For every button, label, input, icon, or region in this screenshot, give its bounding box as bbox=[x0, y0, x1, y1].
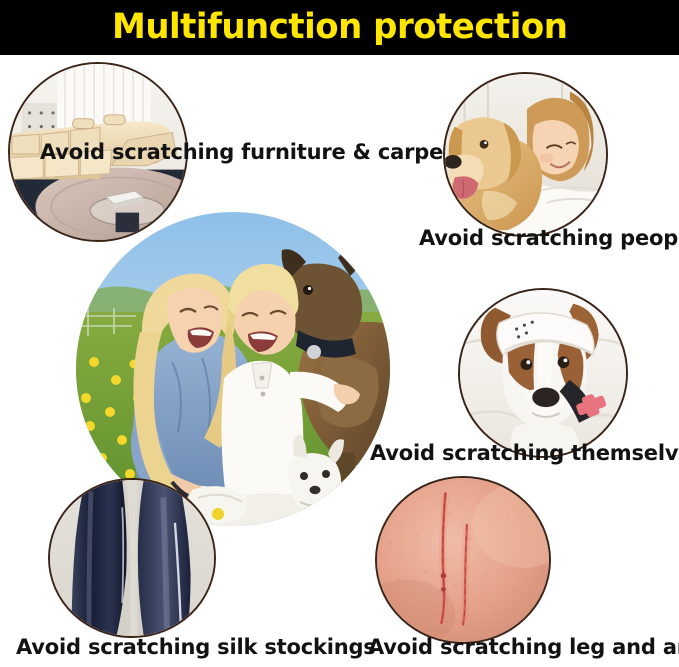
photo-silk-stockings bbox=[48, 478, 216, 638]
caption-scratching-people: Avoid scratching people bbox=[419, 228, 679, 249]
page-title: Multifunction protection bbox=[112, 10, 567, 45]
skin-scratch-illustration bbox=[377, 478, 549, 642]
caption-leg-and-arm: Avoid scratching leg and arm bbox=[368, 637, 679, 658]
dog-and-girl-illustration bbox=[445, 74, 606, 235]
photo-scratching-people bbox=[443, 72, 608, 237]
caption-furniture-carpet: Avoid scratching furniture & carpet bbox=[40, 142, 453, 163]
header-banner: Multifunction protection bbox=[0, 0, 679, 55]
photo-scratching-themselves bbox=[458, 288, 628, 458]
infographic-page: Multifunction protection bbox=[0, 0, 679, 667]
photo-leg-and-arm-scratches bbox=[375, 476, 551, 644]
bandaged-dog-illustration bbox=[460, 290, 626, 456]
caption-silk-stockings: Avoid scratching silk stockings bbox=[16, 637, 376, 658]
stockings-illustration bbox=[50, 480, 214, 636]
caption-scratching-themselves: Avoid scratching themselves bbox=[370, 443, 679, 464]
